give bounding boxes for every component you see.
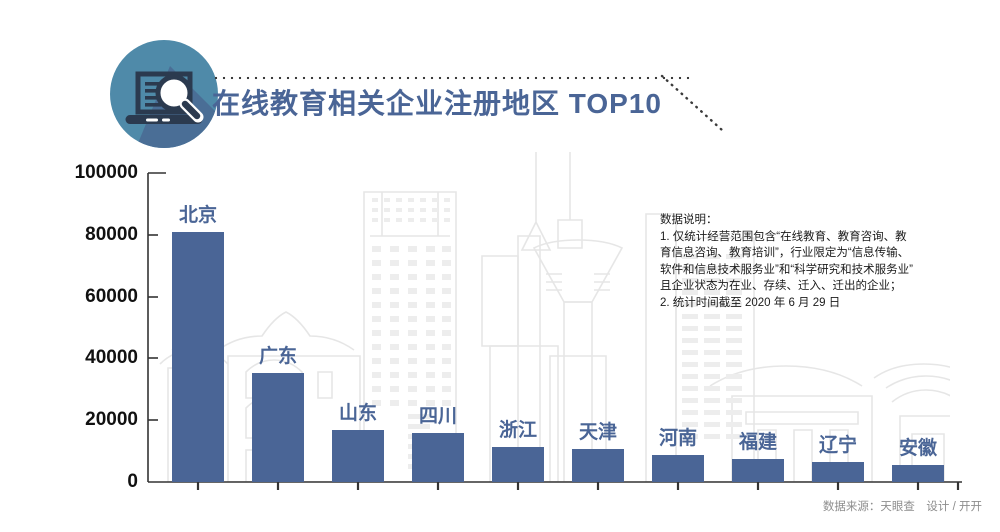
bar-label: 辽宁	[793, 430, 883, 457]
header: 在线教育相关企业注册地区 TOP10	[0, 0, 1000, 150]
bar-label: 北京	[153, 200, 243, 227]
logo-circle	[110, 40, 218, 148]
note-heading: 数据说明：	[660, 212, 970, 229]
bar-label: 山东	[313, 398, 403, 425]
title-leader-dots	[212, 76, 692, 80]
bar	[412, 433, 464, 482]
bar-label: 河南	[633, 423, 723, 450]
source-footer: 数据来源：天眼查 设计 / 开开	[823, 498, 982, 514]
bar	[492, 447, 544, 482]
bar-label: 安徽	[873, 433, 963, 460]
page-title: 在线教育相关企业注册地区 TOP10	[212, 82, 662, 122]
bar-series: 北京广东山东四川浙江天津河南福建辽宁安徽	[0, 150, 1000, 500]
data-note: 数据说明： 1. 仅统计经营范围包含“在线教育、教育咨询、教育信息咨询、教育培训…	[660, 212, 970, 311]
bar-label: 天津	[553, 417, 643, 444]
laptop-magnifier-icon	[110, 40, 218, 148]
title-leader-tail	[660, 72, 730, 134]
bar	[252, 373, 304, 482]
bar-label: 广东	[233, 341, 323, 368]
bar	[652, 455, 704, 482]
bar	[732, 459, 784, 482]
bar-label: 浙江	[473, 415, 563, 442]
note-line: 且企业状态为在业、存续、迁入、迁出的企业；	[660, 278, 970, 295]
note-line: 1. 仅统计经营范围包含“在线教育、教育咨询、教	[660, 229, 970, 246]
bar	[332, 430, 384, 482]
note-body: 1. 仅统计经营范围包含“在线教育、教育咨询、教育信息咨询、教育培训”，行业限定…	[660, 229, 970, 312]
bar	[812, 462, 864, 482]
bar-label: 四川	[393, 401, 483, 428]
bar-chart: 020000400006000080000100000 北京广东山东四川浙江天津…	[0, 150, 1000, 500]
bar-label: 福建	[713, 427, 803, 454]
bar	[172, 232, 224, 482]
bar	[572, 449, 624, 482]
bar	[892, 465, 944, 482]
note-line: 育信息咨询、教育培训”，行业限定为“信息传输、	[660, 245, 970, 262]
note-line: 软件和信息技术服务业”和“科学研究和技术服务业”	[660, 262, 970, 279]
note-line: 2. 统计时间截至 2020 年 6 月 29 日	[660, 295, 970, 312]
